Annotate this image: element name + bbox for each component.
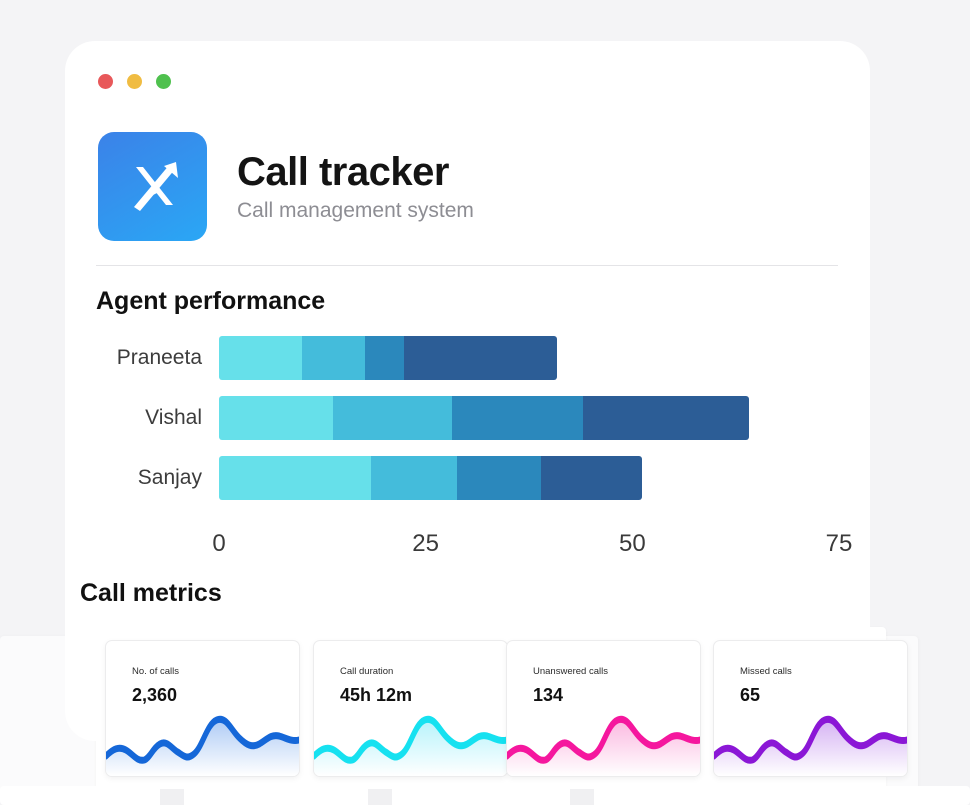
metric-card-label: Unanswered calls bbox=[533, 666, 608, 677]
bar-row: Praneeta bbox=[65, 332, 870, 384]
screenshot-root: Call tracker Call management system Agen… bbox=[0, 0, 970, 805]
metric-card-label: Call duration bbox=[340, 666, 393, 677]
metric-card-label: Missed calls bbox=[740, 666, 792, 677]
close-button[interactable] bbox=[98, 74, 113, 89]
header-divider bbox=[96, 265, 838, 266]
sparkline-icon bbox=[507, 704, 700, 776]
axis-tick-label: 0 bbox=[212, 530, 225, 558]
bar-segment[interactable] bbox=[219, 456, 371, 500]
bar-segment[interactable] bbox=[457, 456, 540, 500]
page-subtitle: Call management system bbox=[237, 199, 474, 222]
metric-card-label: No. of calls bbox=[132, 666, 179, 677]
axis-tick-label: 50 bbox=[619, 530, 646, 558]
stacked-bar[interactable] bbox=[219, 396, 749, 440]
bar-track bbox=[219, 396, 839, 440]
bar-segment[interactable] bbox=[452, 396, 583, 440]
stacked-bar[interactable] bbox=[219, 336, 557, 380]
bar-segment[interactable] bbox=[219, 396, 333, 440]
panel-foot-tab bbox=[570, 789, 594, 805]
stacked-bar[interactable] bbox=[219, 456, 642, 500]
metric-card[interactable]: Call duration45h 12m bbox=[313, 640, 508, 777]
bar-segment[interactable] bbox=[302, 336, 366, 380]
bar-segment[interactable] bbox=[583, 396, 749, 440]
bar-track bbox=[219, 336, 839, 380]
window-controls bbox=[98, 74, 171, 89]
metric-card[interactable]: No. of calls2,360 bbox=[105, 640, 300, 777]
axis-tick-label: 75 bbox=[826, 530, 853, 558]
bar-segment[interactable] bbox=[219, 336, 302, 380]
metric-card-value: 134 bbox=[533, 685, 563, 706]
bar-category-label: Praneeta bbox=[65, 332, 202, 384]
bar-row: Sanjay bbox=[65, 452, 870, 504]
sparkline-icon bbox=[314, 704, 507, 776]
axis-tick-label: 25 bbox=[412, 530, 439, 558]
bar-segment[interactable] bbox=[365, 336, 404, 380]
bar-row: Vishal bbox=[65, 392, 870, 444]
metric-card-value: 45h 12m bbox=[340, 685, 412, 706]
sparkline-icon bbox=[714, 704, 907, 776]
bar-track bbox=[219, 456, 839, 500]
app-header-text: Call tracker Call management system bbox=[237, 151, 474, 222]
background-panel-bottom bbox=[0, 786, 970, 805]
app-logo-icon bbox=[98, 132, 207, 241]
call-metrics-heading: Call metrics bbox=[80, 579, 222, 608]
metric-card-value: 65 bbox=[740, 685, 760, 706]
sparkline-icon bbox=[106, 704, 299, 776]
metric-card[interactable]: Unanswered calls134 bbox=[506, 640, 701, 777]
app-window: Call tracker Call management system Agen… bbox=[65, 41, 870, 741]
bar-segment[interactable] bbox=[333, 396, 452, 440]
panel-foot-tab bbox=[368, 789, 392, 805]
bar-segment[interactable] bbox=[371, 456, 457, 500]
bar-category-label: Vishal bbox=[65, 392, 202, 444]
minimize-button[interactable] bbox=[127, 74, 142, 89]
bar-segment[interactable] bbox=[404, 336, 557, 380]
agent-performance-chart: PraneetaVishalSanjay0255075 bbox=[65, 332, 870, 547]
maximize-button[interactable] bbox=[156, 74, 171, 89]
metric-card[interactable]: Missed calls65 bbox=[713, 640, 908, 777]
panel-foot-tab bbox=[160, 789, 184, 805]
page-title: Call tracker bbox=[237, 151, 474, 193]
chart-x-axis: 0255075 bbox=[219, 530, 839, 566]
bar-segment[interactable] bbox=[541, 456, 643, 500]
bar-category-label: Sanjay bbox=[65, 452, 202, 504]
agent-performance-heading: Agent performance bbox=[96, 287, 325, 316]
app-header: Call tracker Call management system bbox=[98, 132, 474, 241]
metric-card-value: 2,360 bbox=[132, 685, 177, 706]
